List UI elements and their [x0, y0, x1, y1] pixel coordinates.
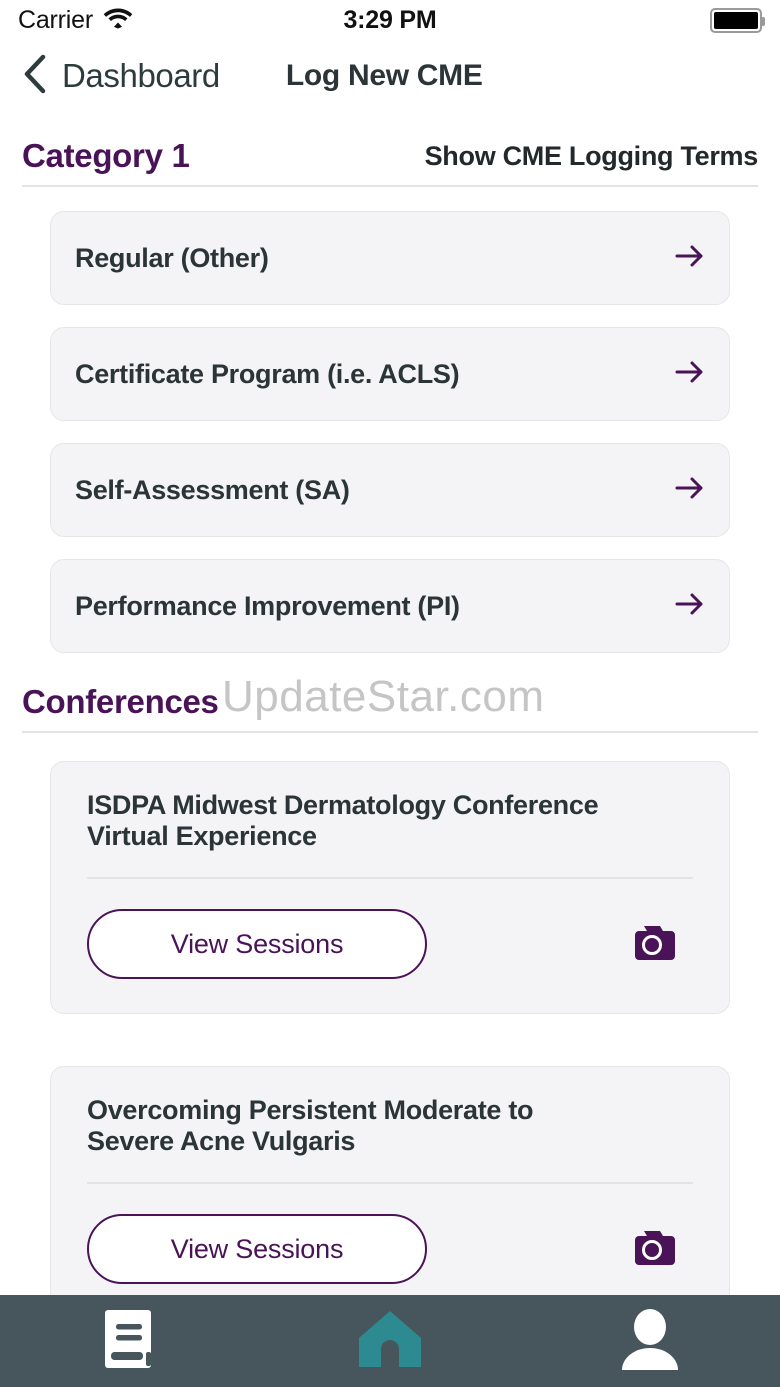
back-button-label: Dashboard: [62, 57, 220, 95]
category-item-self-assessment[interactable]: Self-Assessment (SA): [50, 443, 730, 537]
conference-title: ISDPA Midwest Dermatology Conference Vir…: [87, 790, 627, 851]
battery-fill: [714, 12, 758, 29]
conference-card: ISDPA Midwest Dermatology Conference Vir…: [50, 761, 730, 1014]
tab-profile[interactable]: [520, 1295, 780, 1387]
tab-home[interactable]: [260, 1295, 520, 1387]
category-item-label: Certificate Program (i.e. ACLS): [75, 359, 675, 390]
conference-title: Overcoming Persistent Moderate to Severe…: [87, 1095, 627, 1156]
navigation-bar: Dashboard Log New CME: [0, 40, 780, 112]
home-icon: [356, 1308, 424, 1375]
category-item-label: Regular (Other): [75, 243, 675, 274]
conference-actions: View Sessions: [87, 1214, 693, 1284]
conferences-section-title: Conferences: [22, 683, 219, 721]
divider: [87, 877, 693, 879]
arrow-right-icon: [675, 591, 705, 622]
clock-label: 3:29 PM: [0, 6, 780, 35]
arrow-right-icon: [675, 359, 705, 390]
arrow-right-icon: [675, 243, 705, 274]
category-section-header: Category 1 Show CME Logging Terms: [0, 137, 780, 187]
show-cme-logging-terms-link[interactable]: Show CME Logging Terms: [425, 141, 758, 175]
category-item-certificate-program[interactable]: Certificate Program (i.e. ACLS): [50, 327, 730, 421]
category-list: Regular (Other) Certificate Program (i.e…: [0, 211, 780, 653]
divider: [87, 1182, 693, 1184]
chevron-left-icon: [22, 54, 48, 99]
conferences-section-header: Conferences: [0, 683, 780, 733]
arrow-right-icon: [675, 475, 705, 506]
category-item-label: Performance Improvement (PI): [75, 591, 675, 622]
battery-full-icon: [710, 8, 762, 33]
conference-actions: View Sessions: [87, 909, 693, 979]
camera-icon[interactable]: [629, 922, 675, 967]
view-sessions-button[interactable]: View Sessions: [87, 909, 427, 979]
category-item-label: Self-Assessment (SA): [75, 475, 675, 506]
status-bar-right: [710, 8, 762, 33]
status-bar: Carrier 3:29 PM: [0, 0, 780, 40]
conference-card: Overcoming Persistent Moderate to Severe…: [50, 1066, 730, 1319]
category-item-performance-improvement[interactable]: Performance Improvement (PI): [50, 559, 730, 653]
camera-icon[interactable]: [629, 1227, 675, 1272]
page-title: Log New CME: [286, 59, 483, 93]
category-item-regular[interactable]: Regular (Other): [50, 211, 730, 305]
back-button[interactable]: Dashboard: [22, 54, 220, 99]
person-icon: [617, 1306, 683, 1377]
book-icon: [100, 1306, 160, 1377]
category-section-title: Category 1: [22, 137, 190, 175]
view-sessions-button[interactable]: View Sessions: [87, 1214, 427, 1284]
conferences-list: ISDPA Midwest Dermatology Conference Vir…: [0, 761, 780, 1319]
tab-log[interactable]: [0, 1295, 260, 1387]
bottom-tab-bar: [0, 1295, 780, 1387]
